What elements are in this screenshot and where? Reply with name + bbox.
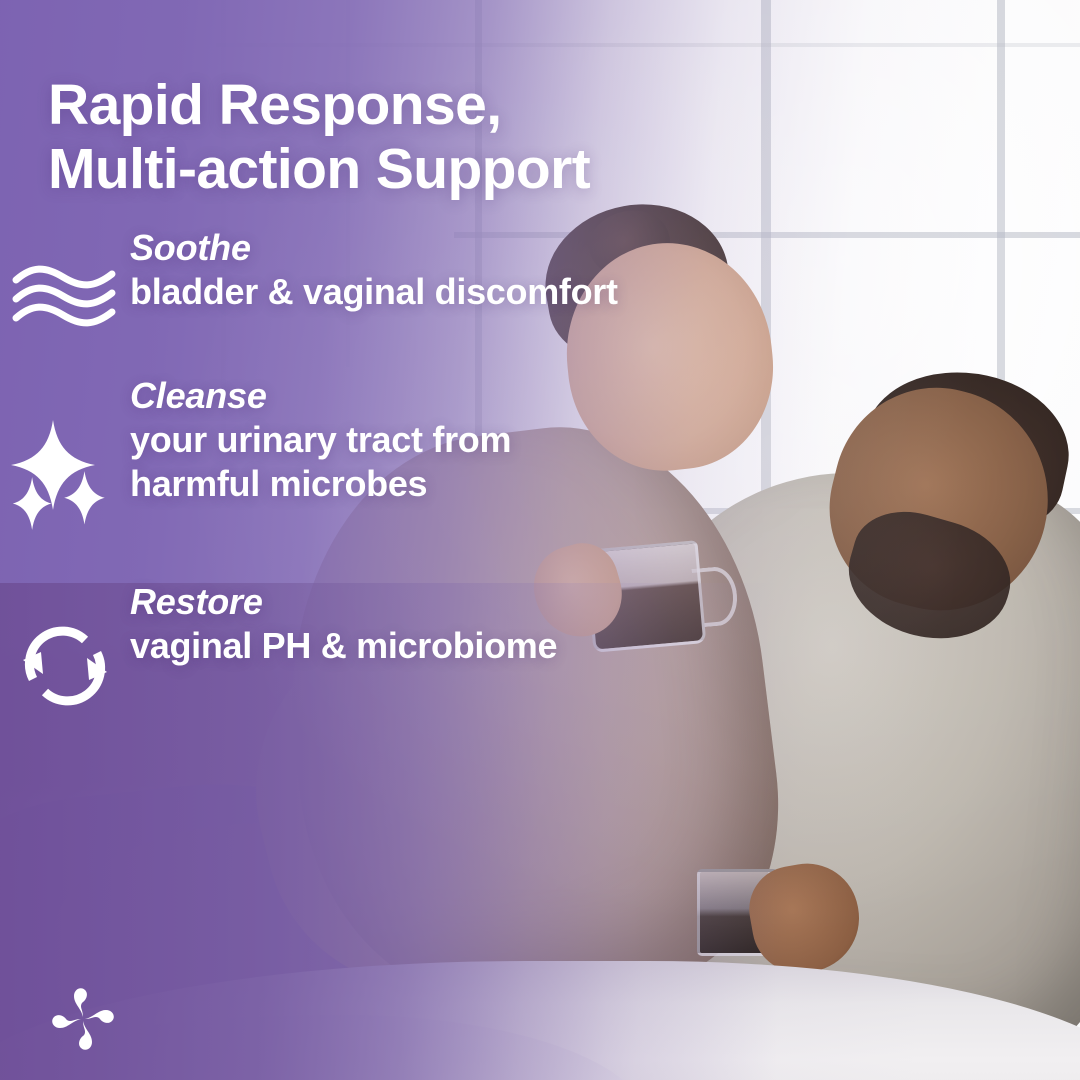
refresh-cycle-icon xyxy=(0,576,130,716)
benefit-title: Soothe xyxy=(130,226,618,270)
benefit-text: Soothe bladder & vaginal discomfort xyxy=(130,222,618,314)
benefit-text: Restore vaginal PH & microbiome xyxy=(130,576,557,668)
benefit-item-restore: Restore vaginal PH & microbiome xyxy=(0,576,620,716)
content-layer: Rapid Response, Multi-action Support Soo… xyxy=(0,0,1080,1080)
benefit-item-cleanse: Cleanse your urinary tract from harmful … xyxy=(0,370,620,540)
sparkles-icon xyxy=(0,370,130,540)
benefit-text: Cleanse your urinary tract from harmful … xyxy=(130,370,620,506)
waves-icon xyxy=(0,222,130,330)
benefit-title: Cleanse xyxy=(130,374,620,418)
benefit-item-soothe: Soothe bladder & vaginal discomfort xyxy=(0,222,620,330)
benefit-body: bladder & vaginal discomfort xyxy=(130,270,618,314)
page-title: Rapid Response, Multi-action Support xyxy=(48,74,768,202)
headline-line-2: Multi-action Support xyxy=(48,138,768,202)
benefit-body: vaginal PH & microbiome xyxy=(130,624,557,668)
benefit-body: your urinary tract from harmful microbes xyxy=(130,418,620,506)
four-petal-flower-logo xyxy=(48,984,118,1054)
benefit-title: Restore xyxy=(130,580,557,624)
benefit-list: Soothe bladder & vaginal discomfort Clea… xyxy=(0,222,620,716)
headline-line-1: Rapid Response, xyxy=(48,73,501,137)
promo-graphic: Rapid Response, Multi-action Support Soo… xyxy=(0,0,1080,1080)
